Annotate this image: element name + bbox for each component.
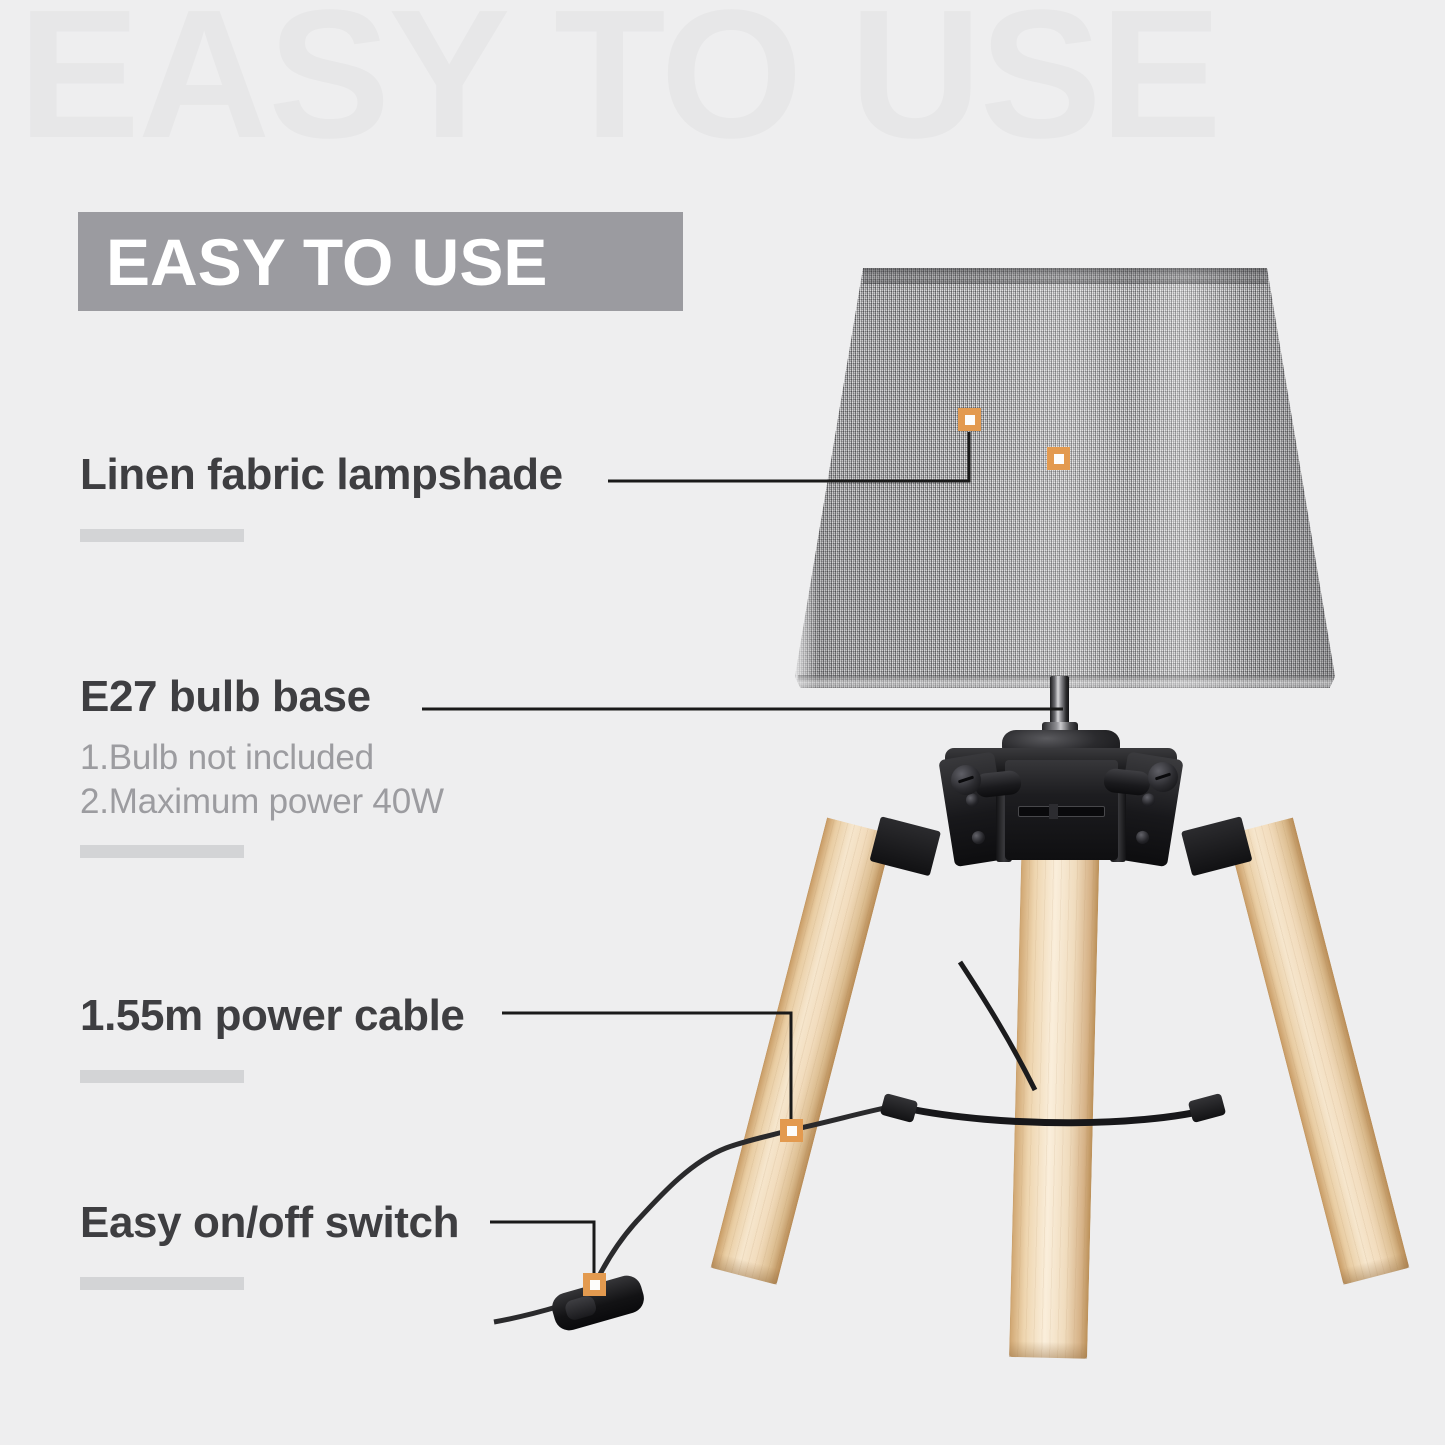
lampshade-marker[interactable]: [958, 408, 981, 431]
feature-bulb-subline-1: 1.Bulb not included: [80, 736, 444, 780]
feature-lampshade: Linen fabric lampshade: [80, 452, 563, 498]
marker-center-dot: [965, 415, 975, 425]
feature-switch-heading: Easy on/off switch: [80, 1200, 459, 1246]
bulb-marker[interactable]: [1047, 447, 1070, 470]
feature-bulb-heading: E27 bulb base: [80, 674, 444, 720]
feature-cable-heading: 1.55m power cable: [80, 993, 465, 1039]
marker-center-dot: [787, 1126, 797, 1136]
feature-switch-underline: [80, 1277, 244, 1290]
feature-lampshade-underline: [80, 529, 244, 542]
feature-lampshade-heading: Linen fabric lampshade: [80, 452, 563, 498]
page-title: EASY TO USE: [106, 229, 547, 295]
marker-center-dot: [1054, 454, 1064, 464]
feature-cable: 1.55m power cable: [80, 993, 465, 1039]
feature-bulb-subline-2: 2.Maximum power 40W: [80, 780, 444, 824]
infographic-canvas: EASY TO USE: [0, 0, 1445, 1445]
feature-cable-underline: [80, 1070, 244, 1083]
feature-bulb-underline: [80, 845, 244, 858]
feature-bulb: E27 bulb base 1.Bulb not included 2.Maxi…: [80, 674, 444, 824]
marker-center-dot: [590, 1280, 600, 1290]
switch-marker[interactable]: [583, 1273, 606, 1296]
cable-marker[interactable]: [780, 1119, 803, 1142]
feature-switch: Easy on/off switch: [80, 1200, 459, 1246]
page-title-band: EASY TO USE: [78, 212, 683, 311]
